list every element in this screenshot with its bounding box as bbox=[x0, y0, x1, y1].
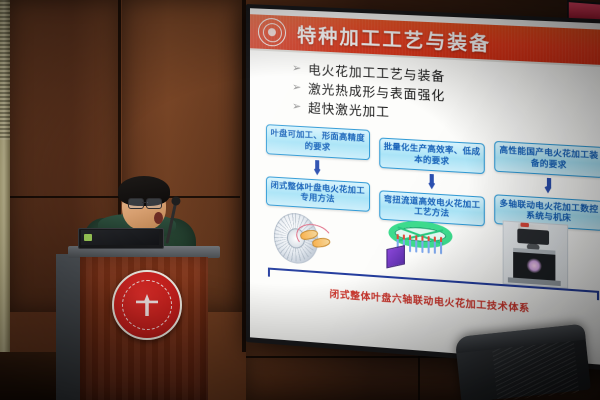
blisk-toolpath-figure bbox=[266, 205, 372, 275]
edm-machine-photo bbox=[492, 220, 600, 291]
arrow-down-icon bbox=[544, 177, 554, 194]
xian-jiaotong-university-emblem bbox=[112, 270, 182, 340]
lectern bbox=[74, 246, 214, 400]
requirement-box: 批量化生产高效率、低成本的要求 bbox=[379, 137, 485, 173]
slide-bullet-list: ➢ 电火花加工工艺与装备 ➢ 激光热成形与表面强化 ➢ 超快激光加工 bbox=[292, 58, 445, 124]
flow-column: 叶盘可加工、形面高精度的要求 闭式整体叶盘电火花加工专用方法 bbox=[266, 124, 370, 219]
presenter-laptop bbox=[78, 228, 162, 250]
requirement-box: 叶盘可加工、形面高精度的要求 bbox=[266, 124, 370, 160]
presenter-mouth bbox=[154, 212, 163, 224]
lecture-hall-scene: 特种加工工艺与装备 ➢ 电火花加工工艺与装备 ➢ 激光热成形与表面强化 ➢ 超快… bbox=[0, 0, 600, 400]
bullet-label: 超快激光加工 bbox=[308, 97, 390, 121]
lectern-side-panel bbox=[56, 254, 82, 400]
university-seal-logo bbox=[258, 18, 286, 47]
arrow-down-icon bbox=[427, 173, 436, 190]
bullet-arrow-icon: ➢ bbox=[292, 80, 308, 94]
wall-trim-strip bbox=[0, 0, 10, 400]
bullet-arrow-icon: ➢ bbox=[292, 61, 308, 75]
arrow-down-icon bbox=[313, 160, 322, 177]
presentation-slide: 特种加工工艺与装备 ➢ 电火花加工工艺与装备 ➢ 激光热成形与表面强化 ➢ 超快… bbox=[250, 8, 600, 366]
wall-seam bbox=[418, 356, 420, 400]
eyeglasses-icon bbox=[128, 198, 162, 207]
slide-title: 特种加工工艺与装备 bbox=[297, 20, 491, 56]
electrode-ring-figure bbox=[378, 212, 486, 282]
bullet-arrow-icon: ➢ bbox=[292, 99, 308, 113]
projection-screen: 特种加工工艺与装备 ➢ 电火花加工工艺与装备 ➢ 激光热成形与表面强化 ➢ 超快… bbox=[246, 4, 600, 371]
requirement-box: 高性能国产电火花加工装备的要求 bbox=[495, 141, 600, 178]
